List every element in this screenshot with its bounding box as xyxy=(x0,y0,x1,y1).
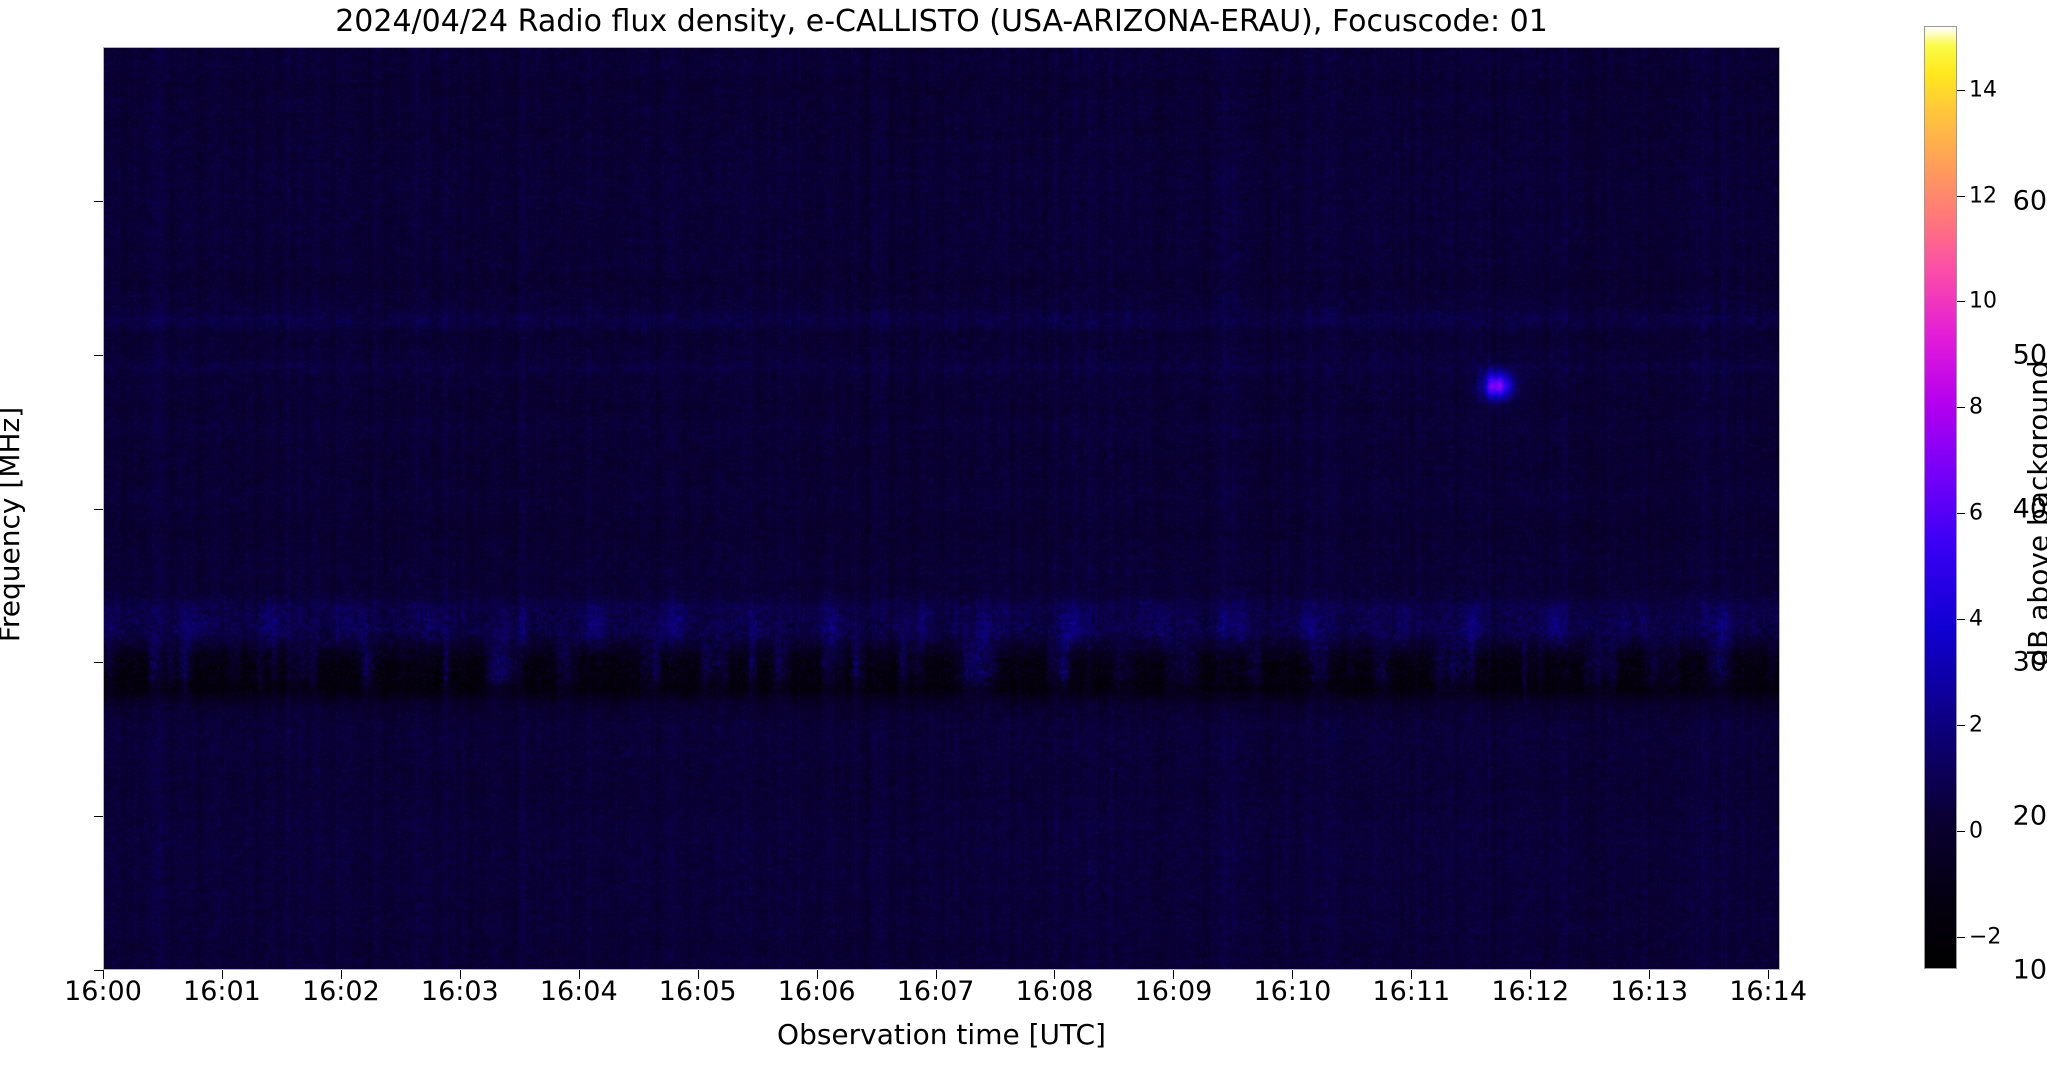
colorbar-tick-mark xyxy=(1957,90,1965,91)
x-tick-label: 16:03 xyxy=(421,976,499,1007)
colorbar-tick-label: 0 xyxy=(1969,819,1983,844)
x-tick-label: 16:08 xyxy=(1016,976,1094,1007)
x-tick-mark xyxy=(1173,970,1174,979)
x-tick-label: 16:14 xyxy=(1729,976,1807,1007)
x-tick-label: 16:05 xyxy=(659,976,737,1007)
colorbar-tick-mark xyxy=(1957,619,1965,620)
colorbar-tick-label: 8 xyxy=(1969,395,1983,420)
colorbar-tick-label: 10 xyxy=(1969,289,1997,314)
colorbar-tick-label: −2 xyxy=(1969,925,2001,950)
x-tick-label: 16:11 xyxy=(1372,976,1450,1007)
x-tick-label: 16:00 xyxy=(64,976,142,1007)
x-tick-mark xyxy=(341,970,342,979)
x-tick-label: 16:09 xyxy=(1135,976,1213,1007)
colorbar-tick-label: 6 xyxy=(1969,501,1983,526)
y-tick-mark xyxy=(94,201,103,202)
x-tick-mark xyxy=(936,970,937,979)
x-axis-label: Observation time [UTC] xyxy=(103,1018,1780,1051)
x-tick-mark xyxy=(1292,970,1293,979)
spectrogram-image xyxy=(104,48,1779,969)
y-tick-mark xyxy=(94,816,103,817)
x-tick-mark xyxy=(1530,970,1531,979)
colorbar-label: dB above background xyxy=(2022,42,2047,985)
x-tick-mark xyxy=(103,970,104,979)
colorbar-tick-mark xyxy=(1957,937,1965,938)
colorbar-tick-mark xyxy=(1957,196,1965,197)
colorbar-tick-mark xyxy=(1957,301,1965,302)
x-tick-label: 16:12 xyxy=(1491,976,1569,1007)
colorbar-gradient xyxy=(1925,27,1956,968)
y-tick-mark xyxy=(94,355,103,356)
colorbar-tick-mark xyxy=(1957,831,1965,832)
colorbar-tick-label: 14 xyxy=(1969,77,1997,102)
x-tick-label: 16:10 xyxy=(1253,976,1331,1007)
x-tick-label: 16:01 xyxy=(183,976,261,1007)
colorbar-tick-mark xyxy=(1957,513,1965,514)
colorbar-tick-mark xyxy=(1957,407,1965,408)
x-tick-mark xyxy=(579,970,580,979)
x-tick-mark xyxy=(1054,970,1055,979)
x-tick-mark xyxy=(460,970,461,979)
x-tick-mark xyxy=(1649,970,1650,979)
colorbar-tick-label: 12 xyxy=(1969,183,1997,208)
colorbar-tick-label: 2 xyxy=(1969,713,1983,738)
x-tick-mark xyxy=(1411,970,1412,979)
x-tick-mark xyxy=(222,970,223,979)
page-title: 2024/04/24 Radio flux density, e-CALLIST… xyxy=(103,4,1780,39)
y-tick-mark xyxy=(94,662,103,663)
y-axis-label: Frequency [MHz] xyxy=(0,63,26,986)
colorbar-tick-label: 4 xyxy=(1969,607,1983,632)
x-tick-label: 16:07 xyxy=(897,976,975,1007)
x-tick-mark xyxy=(698,970,699,979)
spectrogram-plot-area xyxy=(103,47,1780,970)
spectrogram-figure: 2024/04/24 Radio flux density, e-CALLIST… xyxy=(0,0,2047,1067)
x-tick-label: 16:02 xyxy=(302,976,380,1007)
x-tick-mark xyxy=(817,970,818,979)
colorbar-tick-mark xyxy=(1957,725,1965,726)
x-tick-label: 16:13 xyxy=(1610,976,1688,1007)
colorbar xyxy=(1924,26,1957,969)
y-tick-mark xyxy=(94,509,103,510)
x-tick-label: 16:06 xyxy=(778,976,856,1007)
y-tick-mark xyxy=(94,970,103,971)
x-tick-mark xyxy=(1768,970,1769,979)
x-tick-label: 16:04 xyxy=(540,976,618,1007)
